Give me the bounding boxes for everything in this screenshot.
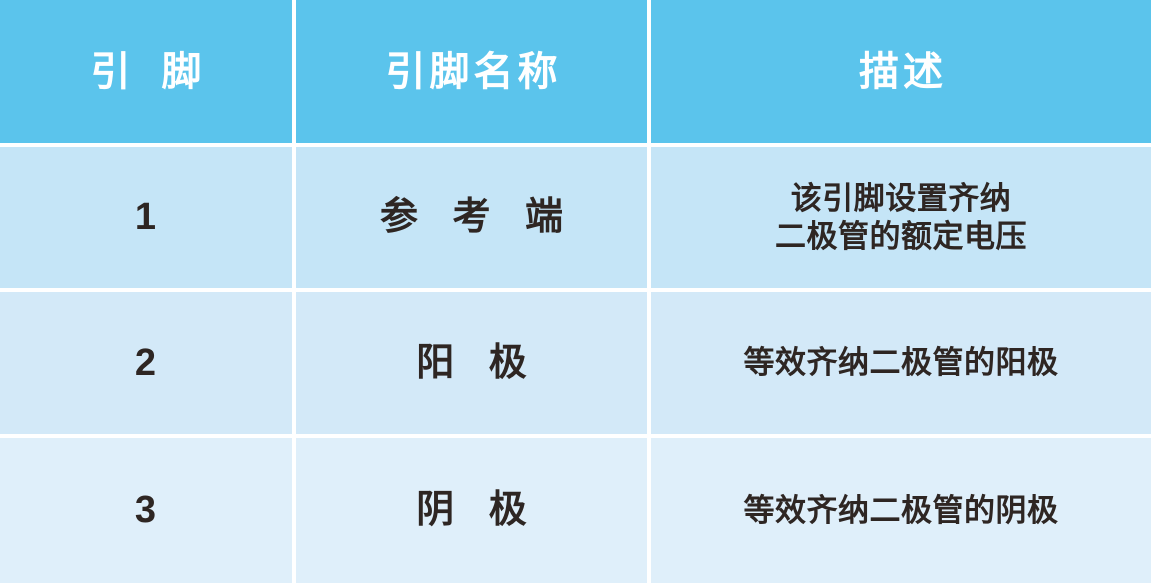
column-header-pin: 引 脚 — [0, 0, 296, 147]
column-header-pin-name: 引脚名称 — [296, 0, 651, 147]
cell-description: 该引脚设置齐纳 二极管的额定电压 — [651, 147, 1155, 292]
description-line: 等效齐纳二极管的阴极 — [651, 492, 1151, 530]
cell-pin-name: 参 考 端 — [296, 147, 651, 292]
description-line: 等效齐纳二极管的阳极 — [651, 344, 1151, 382]
pin-description-table: 引 脚 引脚名称 描述 1 参 考 端 该引脚设置齐纳 二极管的额定电压 2 阳… — [0, 0, 1155, 583]
cell-pin-name: 阴 极 — [296, 438, 651, 583]
cell-pin-name: 阳 极 — [296, 292, 651, 438]
cell-pin-number: 2 — [0, 292, 296, 438]
table-row: 2 阳 极 等效齐纳二极管的阳极 — [0, 292, 1155, 438]
cell-description: 等效齐纳二极管的阳极 — [651, 292, 1155, 438]
table-row: 1 参 考 端 该引脚设置齐纳 二极管的额定电压 — [0, 147, 1155, 292]
cell-pin-number: 1 — [0, 147, 296, 292]
cell-pin-number: 3 — [0, 438, 296, 583]
description-line: 该引脚设置齐纳 — [651, 180, 1151, 218]
column-header-description: 描述 — [651, 0, 1155, 147]
table-row: 3 阴 极 等效齐纳二极管的阴极 — [0, 438, 1155, 583]
description-line: 二极管的额定电压 — [651, 218, 1151, 256]
cell-description: 等效齐纳二极管的阴极 — [651, 438, 1155, 583]
table-header-row: 引 脚 引脚名称 描述 — [0, 0, 1155, 147]
